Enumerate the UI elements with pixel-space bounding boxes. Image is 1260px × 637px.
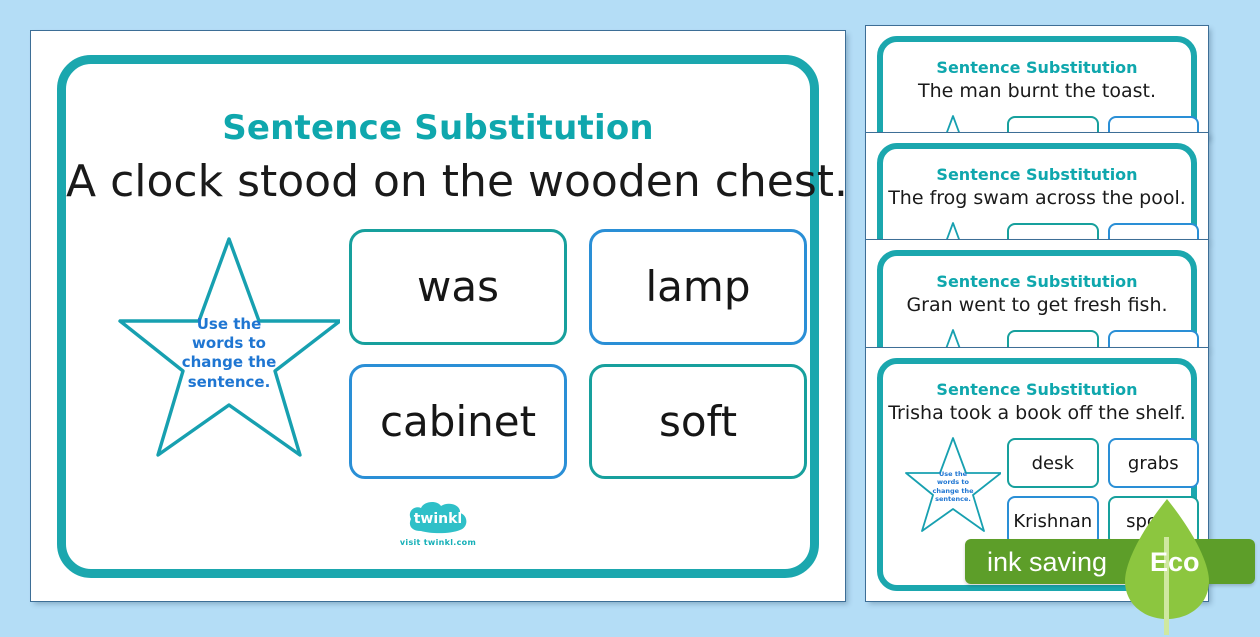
stacked-card-2[interactable]: Sentence Substitution The frog swam acro… [866, 133, 1208, 241]
star-instruction-text: Use the words to change the sentence. [905, 470, 1001, 504]
word-card-soft[interactable]: soft [589, 364, 807, 480]
star-instruction-text: Use the words to change the sentence. [118, 315, 340, 392]
stacked-card-1[interactable]: Sentence Substitution The man burnt the … [866, 26, 1208, 138]
word-card[interactable]: beef [1108, 330, 1200, 349]
word-card-was[interactable]: was [349, 229, 567, 345]
stacked-card-4-words: desk grabs Krishnan spoon [1007, 438, 1199, 546]
main-card-inner-border: Sentence Substitution A clock stood on t… [57, 55, 819, 578]
stacked-card-4-title: Sentence Substitution [883, 380, 1191, 399]
stacked-card-2-title: Sentence Substitution [883, 165, 1191, 184]
star-line: Use the [118, 315, 340, 334]
star-line: sentence. [905, 495, 1001, 503]
stacked-card-3[interactable]: Sentence Substitution Gran went to get f… [866, 240, 1208, 349]
stacked-card-3-words: Stew beef [1007, 330, 1199, 349]
instruction-star: Use the words to change the sentence. [118, 231, 340, 463]
stacked-card-1-sentence: The man burnt the toast. [883, 80, 1191, 102]
stacked-card-4-star: Use the words to change the sentence. [905, 434, 1001, 534]
star-line: words to [905, 478, 1001, 486]
twinkl-cloud-icon: twinkl [407, 501, 469, 535]
stacked-card-2-star [905, 219, 1001, 241]
main-sentence: A clock stood on the wooden chest. [66, 156, 810, 207]
main-worksheet-card: Sentence Substitution A clock stood on t… [31, 31, 845, 601]
star-line: change the [905, 487, 1001, 495]
svg-text:twinkl: twinkl [414, 511, 463, 527]
word-card-spoon[interactable]: spoon [1108, 496, 1200, 546]
star-line: sentence. [118, 373, 340, 392]
stacked-card-3-inner: Sentence Substitution Gran went to get f… [877, 250, 1197, 349]
word-card[interactable] [1108, 223, 1200, 241]
stacked-card-2-inner: Sentence Substitution The frog swam acro… [877, 143, 1197, 241]
word-card-cabinet[interactable]: cabinet [349, 364, 567, 480]
word-card-desk[interactable]: desk [1007, 438, 1099, 488]
twinkl-logo[interactable]: twinkl visit twinkl.com [66, 501, 810, 547]
stacked-card-4[interactable]: Sentence Substitution Trisha took a book… [866, 348, 1208, 601]
star-icon [905, 219, 1001, 241]
star-icon [905, 326, 1001, 349]
page-title: Sentence Substitution [66, 108, 810, 148]
stacked-card-1-title: Sentence Substitution [883, 58, 1191, 77]
word-card-lamp[interactable]: lamp [589, 229, 807, 345]
word-card[interactable] [1007, 223, 1099, 241]
word-bank-grid: was lamp cabinet soft [349, 229, 807, 479]
stacked-card-3-sentence: Gran went to get fresh fish. [883, 294, 1191, 316]
star-line: Use the [905, 470, 1001, 478]
twinkl-url-text: visit twinkl.com [400, 538, 476, 547]
stacked-card-3-title: Sentence Substitution [883, 272, 1191, 291]
stacked-card-1-inner: Sentence Substitution The man burnt the … [877, 36, 1197, 138]
word-card-krishnan[interactable]: Krishnan [1007, 496, 1099, 546]
star-line: words to [118, 334, 340, 353]
stacked-card-3-star [905, 326, 1001, 349]
poster-stage: Sentence Substitution A clock stood on t… [0, 0, 1260, 630]
word-card[interactable]: Stew [1007, 330, 1099, 349]
star-line: change the [118, 353, 340, 372]
word-card-grabs[interactable]: grabs [1108, 438, 1200, 488]
stacked-card-2-sentence: The frog swam across the pool. [883, 187, 1191, 209]
stacked-card-4-inner: Sentence Substitution Trisha took a book… [877, 358, 1197, 591]
stacked-card-4-sentence: Trisha took a book off the shelf. [883, 402, 1191, 424]
stacked-card-2-words [1007, 223, 1199, 241]
